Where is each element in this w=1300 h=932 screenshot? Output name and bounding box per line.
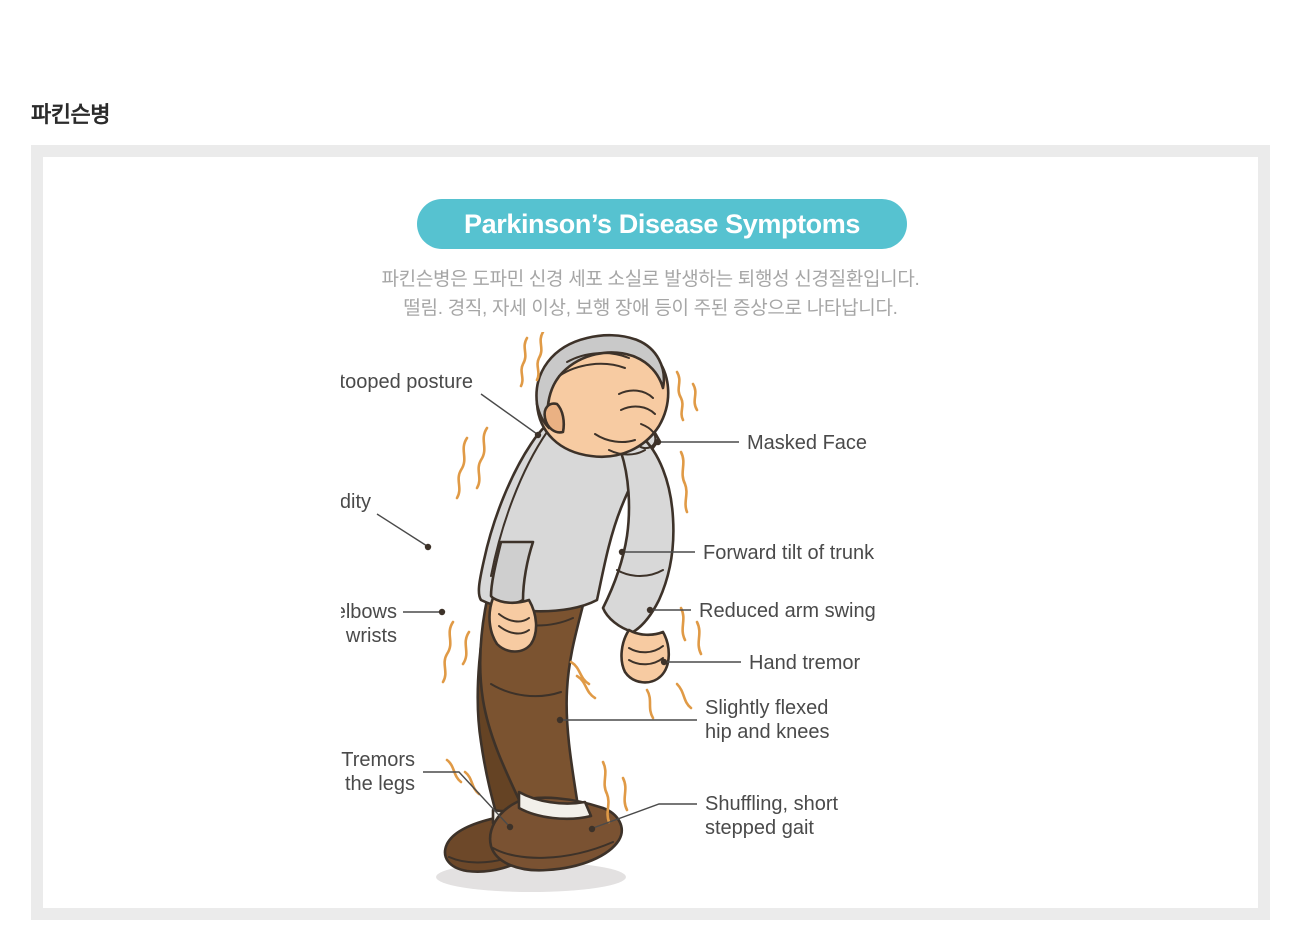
far-hand <box>489 598 536 652</box>
label-shuffling-gait-line2: stepped gait <box>705 817 814 839</box>
near-hand <box>621 630 668 682</box>
label-flexed-elbows-line1: Flexed elbows <box>341 601 397 623</box>
page-root: 파킨슨병 Parkinson’s Disease Symptoms 파킨슨병은 … <box>0 0 1300 932</box>
description-line-2: 떨림. 경직, 자세 이상, 보행 장애 등이 주된 증상으로 나타납니다. <box>43 294 1258 323</box>
tremor-marks-trunk <box>681 452 687 512</box>
content-panel-inner: Parkinson’s Disease Symptoms 파킨슨병은 도파민 신… <box>43 157 1258 908</box>
label-masked-face: Masked Face <box>747 432 867 454</box>
tremor-marks-back <box>457 428 487 498</box>
banner-pill: Parkinson’s Disease Symptoms <box>417 199 907 249</box>
illustration-area: .ol { stroke:#3d3229; stroke-width:2.6; … <box>43 332 1258 902</box>
label-forward-tilt-of-trunk: Forward tilt of trunk <box>703 542 875 564</box>
parkinsons-figure-svg: .ol { stroke:#3d3229; stroke-width:2.6; … <box>341 332 961 902</box>
label-hand-tremor: Hand tremor <box>749 652 860 674</box>
label-stooped-posture: Stooped posture <box>341 371 473 393</box>
description-block: 파킨슨병은 도파민 신경 세포 소실로 발생하는 퇴행성 신경질환입니다. 떨림… <box>43 265 1258 323</box>
label-back-rigidity: Back rigidity <box>341 491 371 513</box>
label-tremors-legs-line1: Tremors <box>341 749 415 771</box>
label-reduced-arm-swing: Reduced arm swing <box>699 600 876 622</box>
banner-title: Parkinson’s Disease Symptoms <box>464 209 860 240</box>
label-shuffling-gait-line1: Shuffling, short <box>705 793 838 815</box>
leader-stooped-posture <box>481 394 537 434</box>
leader-back-rigidity <box>377 514 427 546</box>
label-tremors-legs-line2: in the legs <box>341 773 415 795</box>
description-line-1: 파킨슨병은 도파민 신경 세포 소실로 발생하는 퇴행성 신경질환입니다. <box>43 265 1258 294</box>
label-slightly-flexed-line2: hip and knees <box>705 721 830 743</box>
label-flexed-elbows-line2: and wrists <box>341 625 397 647</box>
label-slightly-flexed-line1: Slightly flexed <box>705 697 828 719</box>
content-panel: Parkinson’s Disease Symptoms 파킨슨병은 도파민 신… <box>31 145 1270 920</box>
page-title: 파킨슨병 <box>31 100 110 130</box>
